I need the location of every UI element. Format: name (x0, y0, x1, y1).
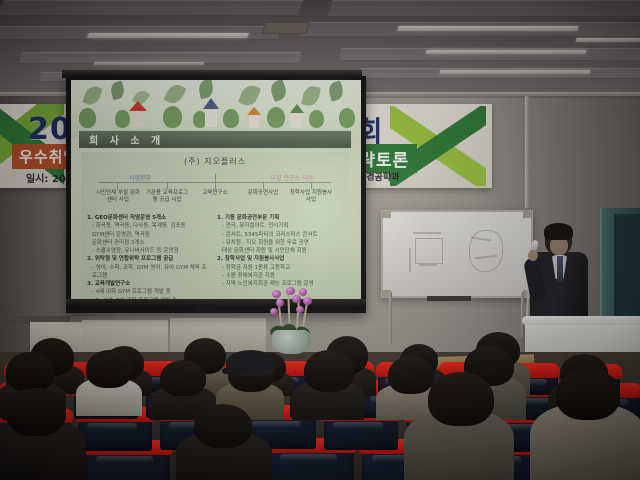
slide-line: - 지역 노인복지회관 재능 프로그램 운영 (217, 280, 341, 288)
slide-line: - 4세 이하 GYM 프로그램 개발 중 (87, 288, 211, 296)
slide-line: - 수원 장애복지관 지원 (217, 272, 341, 280)
slide-line: 2. 창학사업 및 자원봉사사업 (217, 255, 341, 263)
photograph-scene: 200 우수취업 일시: 2009. 수회 공전략토론 대학교 환경공학과 (0, 0, 640, 480)
auditorium-seat (86, 450, 170, 480)
slide-line: - 화곡동, 역곡동, 다사동, 목계동, 김포동 (87, 222, 211, 230)
ceiling-light (94, 62, 205, 65)
slide-line: - 장학금 지원 1종류 고등학교 (217, 264, 341, 272)
ceiling-vent (262, 22, 310, 34)
slide-left-column: 1. GEO문화센터 직영운영 5개소 - 화곡동, 역곡동, 다사동, 목계동… (87, 214, 211, 305)
ceiling-light (440, 70, 591, 74)
audience-head (86, 350, 132, 388)
whiteboard-sketch (419, 264, 437, 266)
audience-head (556, 368, 620, 420)
screen-pull-knob[interactable] (196, 306, 214, 311)
slide-line: - 연극, 뮤지컬아트, 전시기획 (217, 222, 341, 230)
presenter-hair (544, 223, 573, 240)
org-branch: 교육연구소 (192, 190, 238, 197)
slide-line: 1. GEO문화센터 직영운영 5개소 (87, 214, 211, 222)
audience-head (388, 356, 434, 394)
presenter-hand (528, 250, 538, 261)
slide-body: (주) 지오플러스 사업본부 부설 연구소·사업 시민단체 부설 문화센터 사업… (81, 152, 349, 300)
house-illustration (205, 108, 217, 127)
projection-screen: 회 사 소 개 (주) 지오플러스 사업본부 부설 연구소·사업 시민단체 부설… (66, 76, 366, 313)
banner-pole (525, 96, 529, 208)
audience-head (160, 360, 206, 396)
podium-top-surface (522, 316, 640, 325)
slide-line: - 유치원 · 지오 회원을 위한 무료 공연 (217, 239, 341, 247)
auditorium-seat (270, 448, 354, 480)
ceiling-light (397, 26, 578, 31)
flower-pot (272, 330, 310, 354)
org-chart: 사업본부 부설 연구소·사업 시민단체 부설 문화센터 사업 기관용 교육프로그… (95, 172, 335, 206)
org-label-right: 부설 연구소·사업 (271, 173, 313, 182)
slide-title: 회 사 소 개 (89, 132, 164, 147)
house-illustration (249, 114, 259, 128)
slide-line: 1. 기동 문화공연부문 기획 (217, 214, 341, 222)
org-branch: 기관용 교육프로그램 공급 사업 (144, 190, 190, 205)
org-branch: 창학사업 지원봉사 사업 (288, 190, 334, 205)
slide-line: - 스쿨수영장, 유니버사이드 등 운영점 (87, 247, 211, 255)
ceiling-light (576, 38, 640, 42)
slide-line: 문화센터 관리점 3개소 (87, 239, 211, 247)
ceiling-light (87, 33, 249, 38)
slide-line: - 콘서트, 5345파티의 크리스마스 콘서트 (217, 231, 341, 239)
ceiling-light (426, 50, 587, 54)
whiteboard-sketch (415, 238, 443, 264)
presenter-tie (557, 256, 563, 282)
audience-head (428, 372, 494, 426)
slide-line: - 영어, 수학, 과학, GYM 영어, 유아 GYM 체육 프로그램 (87, 264, 211, 281)
slide-line: GYM센터 운영관, 역곡점 (87, 231, 211, 239)
org-label-left: 사업본부 (129, 173, 151, 182)
presentation-slide: 회 사 소 개 (주) 지오플러스 사업본부 부설 연구소·사업 시민단체 부설… (71, 80, 361, 308)
slide-title-bar: 회 사 소 개 (79, 130, 351, 148)
whiteboard (381, 210, 533, 298)
whiteboard-marker-tray (427, 296, 471, 301)
audience-head (304, 350, 354, 392)
audience-head (6, 388, 66, 436)
slide-company-name: (주) 지오플러스 (81, 156, 349, 167)
screen-bottom-bar (66, 299, 366, 308)
house-illustration (291, 112, 302, 128)
audience-head (194, 404, 252, 448)
audience-cap (226, 350, 276, 376)
slide-right-column: 1. 기동 문화공연부문 기획 - 연극, 뮤지컬아트, 전시기획 - 콘서트,… (217, 214, 341, 288)
auditorium-seat (78, 417, 152, 451)
auditorium-seat (324, 416, 398, 450)
whiteboard-sketch (409, 248, 411, 272)
slide-line: 3. 교육개발연구소 (87, 280, 211, 288)
audience-head (6, 352, 54, 392)
whiteboard-stand-leg (521, 292, 524, 338)
whiteboard-sketch (413, 232, 441, 234)
whiteboard-stand-leg (389, 292, 392, 344)
org-branch: 시민단체 부설 문화센터 사업 (95, 190, 141, 205)
slide-line: 2. 위탁형 및 연합위탁 프로그램 공급 (87, 255, 211, 263)
org-branch: 문화공연사업 (240, 190, 286, 197)
house-illustration (131, 110, 145, 127)
slide-line: 대상 문화센터 회원 및 시민단체 회원 (217, 247, 341, 255)
